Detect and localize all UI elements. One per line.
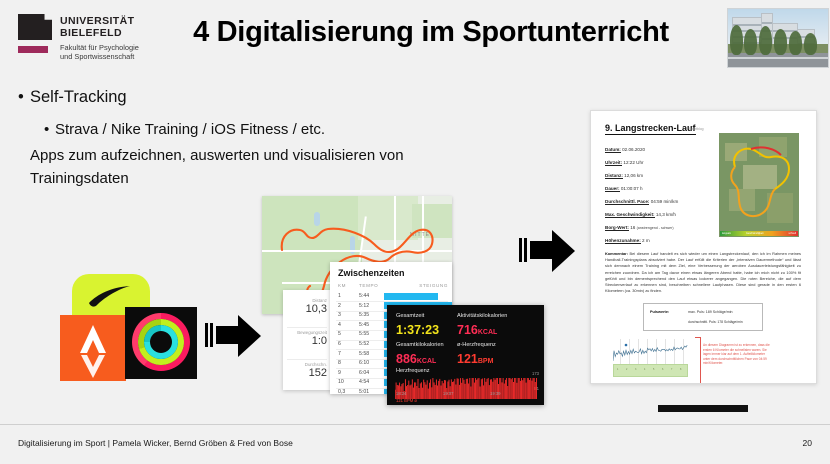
logo-accent-bar xyxy=(18,46,48,53)
logo-name-line1: UNIVERSITÄT xyxy=(60,15,134,27)
document-field: Max. Geschwindigkeit: 14,3 km/h xyxy=(605,212,676,217)
scale-label-slow: langsam xyxy=(722,232,731,235)
chart-max-value: 173 xyxy=(532,371,539,376)
cell-tempo: 6:10 xyxy=(359,360,369,366)
summary-value: 10,3 xyxy=(306,303,327,315)
tile-value-gesamtkilokalorien: 886KCAL xyxy=(396,352,436,366)
tile-label-aktivitaetskilokalorien: Aktivitätskilokalorien xyxy=(457,313,507,319)
nike-swoosh-icon xyxy=(86,286,136,308)
logo-name-line2: BIELEFELD xyxy=(60,27,122,39)
bullet-body-text: Apps zum aufzeichnen, auswerten und visu… xyxy=(30,144,500,190)
strava-chevron-icon xyxy=(60,315,126,381)
cell-tempo: 4:54 xyxy=(359,379,369,385)
cell-km: 5 xyxy=(338,331,341,337)
logo-university-name: UNIVERSITÄT BIELEFELD xyxy=(60,16,134,39)
pulse-values-box: Pulswerte: max. Puls: 189 Schläge/min du… xyxy=(643,303,763,331)
field-value: 16 xyxy=(630,225,635,230)
cell-tempo: 5:52 xyxy=(359,341,369,347)
cell-km: 2 xyxy=(338,303,341,309)
summary-value: 1:0 xyxy=(297,335,327,347)
field-label: Datum: xyxy=(605,147,621,153)
chart-tick-1: 19:07 xyxy=(443,391,453,396)
document-annotation: An diesem Diagramm ist zu erkennen, dass… xyxy=(703,343,773,366)
field-label: Uhrzeit: xyxy=(605,160,622,166)
campus-photo xyxy=(727,8,829,68)
field-value: 14,3 km/h xyxy=(656,212,676,217)
apple-watch-summary-panel: Gesamtzeit 1:37:23 Aktivitätskilokalorie… xyxy=(387,305,544,405)
bullet-level2-label: Strava / Nike Training / iOS Fitness / e… xyxy=(55,121,325,138)
field-label: Dauer: xyxy=(605,186,620,192)
cell-tempo: 5:44 xyxy=(359,293,369,299)
slide-root: UNIVERSITÄT BIELEFELD Fakultät für Psych… xyxy=(0,0,830,464)
sportblog-document: 9. Langstrecken-Lauf Sportblog Datum: 02… xyxy=(590,110,817,384)
tile-label-gesamtzeit: Gesamtzeit xyxy=(396,313,424,319)
bullet-dot-icon: • xyxy=(18,88,30,107)
arrow-apps-to-strava-icon xyxy=(205,314,263,356)
field-value: 01:00:07 h xyxy=(621,186,643,191)
cell-tempo: 5:01 xyxy=(359,389,369,394)
chart-tick-0: 18:24 xyxy=(396,391,406,396)
logo-faculty: Fakultät für Psychologie und Sportwissen… xyxy=(60,44,139,61)
tile-label-gesamtkilokalorien: Gesamtkilokalorien xyxy=(396,342,444,348)
cell-km: 10 xyxy=(338,379,344,385)
pulse-max: max. Puls: 189 Schläge/min xyxy=(688,310,733,314)
column-header-tempo: TEMPO xyxy=(359,283,378,288)
field-value: 2 m xyxy=(642,238,650,243)
cell-km: 1 xyxy=(338,293,341,299)
tile-value-aktivitaetskilokalorien: 716KCAL xyxy=(457,323,497,337)
field-note: (anstrengend - schwer) xyxy=(637,226,674,230)
cell-km: 7 xyxy=(338,351,341,357)
comment-label: Kommentar: xyxy=(605,251,628,256)
document-route-map: langsam Geschwindigkeit schnell xyxy=(719,133,799,237)
cell-tempo: 5:45 xyxy=(359,322,369,328)
field-value: 04:59 min/km xyxy=(651,199,679,204)
pulse-label: Pulswerte: xyxy=(650,310,669,314)
field-label: Borg-Wert: xyxy=(605,225,629,231)
cell-km: 0,3 xyxy=(338,389,345,394)
logo-mark-icon xyxy=(18,14,52,40)
field-value: 02.06.2020 xyxy=(622,147,645,152)
cell-km: 4 xyxy=(338,322,341,328)
field-label: Höhenzunahme: xyxy=(605,238,641,244)
document-title-note: Sportblog xyxy=(689,127,704,131)
column-header-steigung: STEIGUNG xyxy=(419,283,448,288)
document-route-path xyxy=(719,133,799,237)
document-field: Höhenzunahme: 2 m xyxy=(605,238,650,243)
annotation-bracket xyxy=(695,337,701,384)
document-field: Uhrzeit: 12:22 Uhr xyxy=(605,160,644,165)
heart-rate-chart xyxy=(395,377,537,399)
document-title: 9. Langstrecken-Lauf xyxy=(605,123,696,135)
cell-km: 8 xyxy=(338,360,341,366)
summary-value: 152 xyxy=(305,367,327,379)
cell-tempo: 5:35 xyxy=(359,312,369,318)
zwischenzeiten-title: Zwischenzeiten xyxy=(338,268,405,278)
strava-icon xyxy=(60,315,126,381)
chart-footer: 121 BPM ø xyxy=(396,398,417,403)
table-row: 15:44 xyxy=(338,292,448,302)
cell-tempo: 5:12 xyxy=(359,303,369,309)
pace-axis-band: 123 456 78 xyxy=(613,364,688,377)
column-header-km: KM xyxy=(338,283,346,288)
footer-text: Digitalisierung im Sport | Pamela Wicker… xyxy=(18,438,293,448)
field-label: Max. Geschwindigkeit: xyxy=(605,212,655,218)
arrow-strava-to-document-icon xyxy=(519,229,577,271)
activity-rings-icon xyxy=(132,313,190,371)
tile-value-herzfrequenz-avg: 121BPM xyxy=(457,352,493,366)
document-field: Datum: 02.06.2020 xyxy=(605,147,645,152)
chart-tick-2: 19:39 xyxy=(490,391,500,396)
cell-tempo: 5:58 xyxy=(359,351,369,357)
map-speed-scale: langsam Geschwindigkeit schnell xyxy=(720,231,798,236)
cell-km: 3 xyxy=(338,312,341,318)
tile-value-gesamtzeit: 1:37:23 xyxy=(396,323,439,337)
bullet-level1-label: Self-Tracking xyxy=(30,88,127,106)
document-field: Durchschnittl. Pace: 04:59 min/km xyxy=(605,199,678,204)
scale-label-fast: schnell xyxy=(789,232,796,235)
field-value: 12:22 Uhr xyxy=(623,160,643,165)
document-field: Borg-Wert: 16 (anstrengend - schwer) xyxy=(605,225,674,230)
document-pace-chart: 123 456 78 xyxy=(613,339,688,377)
cell-km: 6 xyxy=(338,341,341,347)
bullet-level2: •Strava / Nike Training / iOS Fitness / … xyxy=(44,121,325,138)
scale-label-mid: Geschwindigkeit xyxy=(746,232,763,235)
cell-km: 9 xyxy=(338,370,341,376)
logo-faculty-line2: und Sportwissenschaft xyxy=(60,52,134,61)
footer-divider xyxy=(0,424,830,425)
bullet-level1: •Self-Tracking xyxy=(18,88,127,107)
field-value: 12,06 km xyxy=(624,173,643,178)
chart-label-herzfrequenz: Herzfrequenz xyxy=(396,368,430,374)
cell-tempo: 5:55 xyxy=(359,331,369,337)
tile-label-herzfrequenz-avg: ø-Herzfrequenz xyxy=(457,342,496,348)
document-field: Distanz: 12,06 km xyxy=(605,173,643,178)
field-label: Distanz: xyxy=(605,173,623,179)
field-label: Durchschnittl. Pace: xyxy=(605,199,649,205)
bullet-dot-icon: • xyxy=(44,121,55,138)
cell-bar xyxy=(384,293,438,300)
document-comment: Kommentar: Bei diesem Lauf handelt es si… xyxy=(605,251,801,294)
comment-text: Bei diesem Lauf handelt es sich wieder u… xyxy=(605,251,801,293)
pulse-avg: durchschnittl. Puls: 178 Schläge/min xyxy=(688,320,743,324)
page-number: 20 xyxy=(803,438,812,448)
page-title: 4 Digitalisierung im Sportunterricht xyxy=(141,16,721,49)
strava-summary-card: Distanz 10,3 Bewegungszeit 1:0 Durchschn… xyxy=(283,290,331,390)
document-bottom-bar xyxy=(658,405,748,412)
ios-fitness-icon xyxy=(125,307,197,379)
cell-tempo: 6:04 xyxy=(359,370,369,376)
university-logo: UNIVERSITÄT BIELEFELD Fakultät für Psych… xyxy=(18,14,143,60)
document-field: Dauer: 01:00:07 h xyxy=(605,186,643,191)
